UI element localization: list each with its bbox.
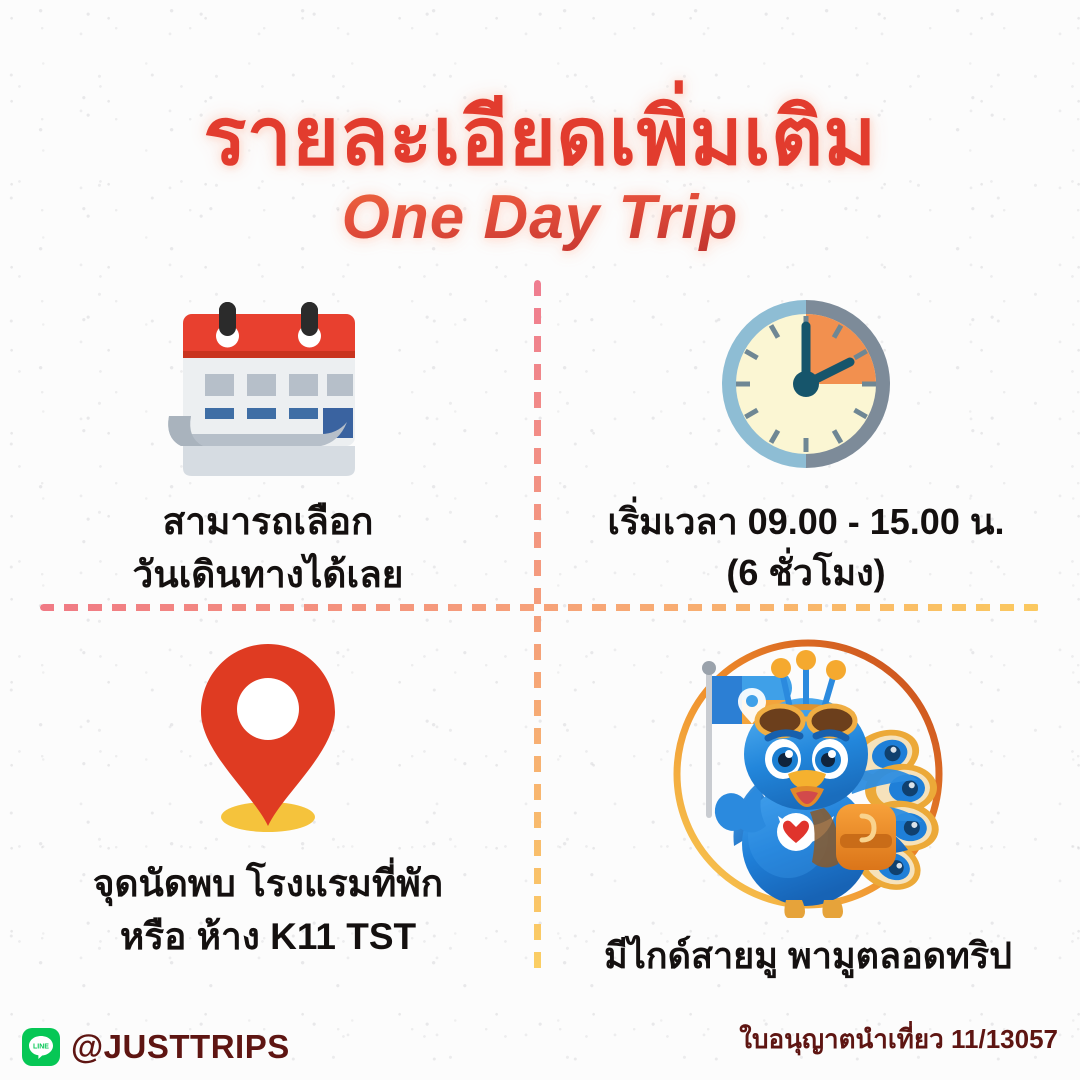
caption-line-2: (6 ชั่วโมง)	[608, 547, 1005, 598]
divider-vertical	[534, 280, 541, 980]
poster-heading-block: รายละเอียดเพิ่มเติม One Day Trip	[0, 96, 1080, 253]
info-cell-meeting-point: จุดนัดพบ โรงแรมที่พัก หรือ ห้าง K11 TST	[18, 636, 518, 963]
line-bubble-icon: LINE	[26, 1032, 56, 1062]
footer-social-handle[interactable]: LINE @JUSTTRIPS	[22, 1028, 290, 1066]
mascot-art-wrap	[648, 626, 968, 926]
caption-line-2: วันเดินทางได้เลย	[133, 549, 404, 602]
caption-line-1: จุดนัดพบ โรงแรมที่พัก	[93, 863, 443, 904]
info-cell-time: เริ่มเวลา 09.00 - 15.00 น. (6 ชั่วโมง)	[556, 296, 1056, 598]
caption-line-2: หรือ ห้าง K11 TST	[93, 911, 443, 964]
info-cell-guide: มีไกด์สายมู พามูตลอดทริป	[552, 626, 1064, 981]
clock-art-wrap	[718, 296, 894, 472]
page-title-thai: รายละเอียดเพิ่มเติม	[0, 96, 1080, 178]
caption-line-1: เริ่มเวลา 09.00 - 15.00 น.	[608, 501, 1005, 542]
line-icon[interactable]: LINE	[22, 1028, 60, 1066]
poster-canvas: รายละเอียดเพิ่มเติม One Day Trip	[0, 0, 1080, 1080]
footer-handle-text: @JUSTTRIPS	[71, 1028, 290, 1066]
info-cell-date: สามารถเลือก วันเดินทางได้เลย	[18, 296, 518, 601]
footer-license-text: ใบอนุญาตนำเที่ยว 11/13057	[739, 1019, 1058, 1060]
info-cell-time-caption: เริ่มเวลา 09.00 - 15.00 น. (6 ชั่วโมง)	[608, 496, 1005, 598]
calendar-icon	[161, 296, 375, 482]
info-cell-guide-caption: มีไกด์สายมู พามูตลอดทริป	[604, 930, 1012, 981]
caption-line-1: สามารถเลือก	[163, 501, 374, 542]
map-pin-icon	[183, 636, 353, 832]
info-cell-date-caption: สามารถเลือก วันเดินทางได้เลย	[133, 496, 404, 601]
clock-icon	[718, 296, 894, 472]
info-cell-meeting-point-caption: จุดนัดพบ โรงแรมที่พัก หรือ ห้าง K11 TST	[93, 858, 443, 963]
caption-line-1: มีไกด์สายมู พามูตลอดทริป	[604, 935, 1012, 976]
line-wordmark: LINE	[33, 1043, 49, 1050]
page-subtitle-english: One Day Trip	[0, 182, 1080, 253]
calendar-art-wrap	[161, 296, 375, 482]
map-pin-art-wrap	[183, 636, 353, 832]
peacock-mascot-icon	[648, 626, 968, 926]
